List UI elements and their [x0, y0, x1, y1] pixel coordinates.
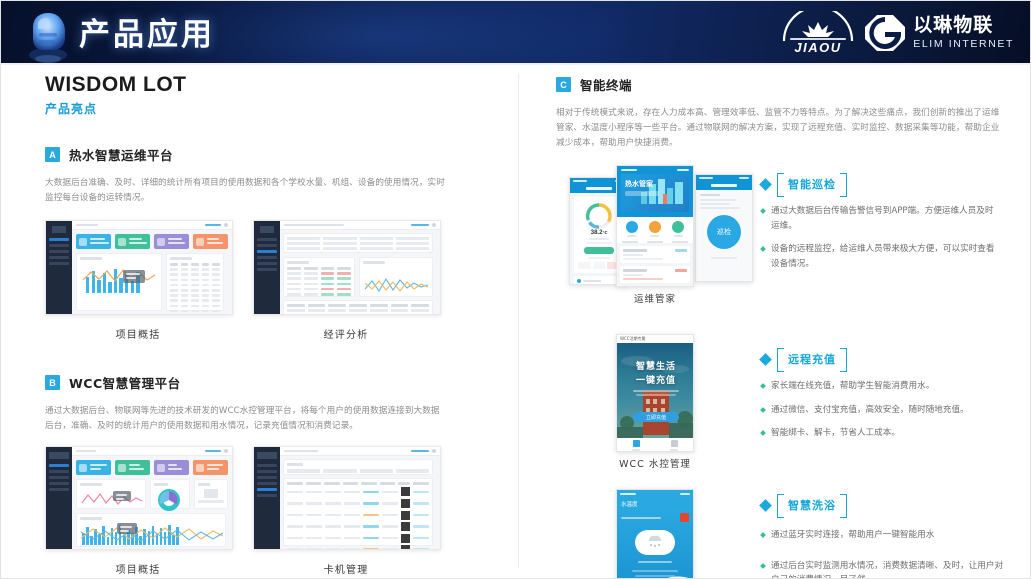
content-area: WISDOM LOT 产品亮点 A 热水智慧运维平台 大数据后台准确、及时、详细… — [1, 65, 1031, 579]
app-main — [280, 447, 440, 549]
terminal-group-wcc: WCC活期专属 — [556, 334, 1008, 469]
kpi-cards — [76, 234, 228, 249]
bracket-right-icon — [840, 348, 847, 372]
wcc-hero: 智慧生活 一键充值 立即充值 — [617, 343, 693, 438]
feature-tag: 智能巡检 — [777, 173, 847, 195]
list-item: 智能绑卡、解卡，节省人工成本。 — [761, 426, 1006, 441]
group-caption: 运维管家 — [616, 291, 694, 305]
bullet-icon — [760, 407, 766, 413]
feature-heading: 智慧洗浴 — [761, 494, 1009, 516]
phone-hero-title: 热水管家 — [625, 179, 653, 189]
feature-block-recharge: 远程充值 家长端在线充值，帮助学生智能消费用水。 通过微信、支付宝充值，高效安全… — [761, 348, 1006, 450]
diamond-icon — [759, 178, 772, 191]
feature-heading: 远程充值 — [761, 348, 1006, 370]
section-c-badge: C — [556, 77, 571, 92]
wcc-hero-line2: 一键充值 — [617, 373, 693, 386]
section-b-title: WCC智慧管理平台 — [69, 373, 181, 392]
data-table — [283, 478, 433, 546]
jiaou-logo: JIAOU — [772, 11, 864, 55]
bullet-icon — [760, 246, 766, 252]
screenshot-caption: 项目概括 — [45, 326, 231, 341]
alarm-list-item[interactable] — [620, 246, 690, 263]
bullet-icon — [760, 563, 766, 569]
section-a-badge: A — [45, 147, 60, 162]
fist-icon — [17, 3, 79, 63]
list-item-text: 通过后台实时监测用水情况，消费数据清晰、及时，让用户对自己的消费情况一目了然 — [771, 559, 1009, 579]
feature-tag: 远程充值 — [777, 348, 847, 370]
feature-heading: 智能巡检 — [761, 173, 1001, 195]
app-topbar — [280, 447, 440, 456]
feature-tag-label: 智慧洗浴 — [788, 497, 836, 513]
bracket-left-icon — [777, 494, 784, 518]
section-c-head: C 智能终端 — [556, 75, 1008, 94]
kpi-cards — [76, 460, 228, 475]
app-topbar — [72, 221, 232, 230]
wisdom-lot-title: WISDOM LOT — [45, 73, 485, 97]
quick-actions[interactable] — [620, 221, 690, 237]
wave-divider-icon — [617, 575, 694, 579]
feature-tag-label: 智能巡检 — [788, 176, 836, 192]
alarm-list-item[interactable] — [620, 266, 690, 283]
page-header: 产品应用 JIAOU 以琳物联 ELIM INTERNET — [1, 1, 1031, 63]
left-column: WISDOM LOT 产品亮点 A 热水智慧运维平台 大数据后台准确、及时、详细… — [45, 65, 485, 576]
app-main — [280, 221, 440, 314]
screenshot-image — [253, 220, 441, 315]
shower-app-title: 水温度 — [621, 500, 689, 508]
section-b-desc: 通过大数据后台、物联网等先进的技术研发的WCC水控管理平台，将每个用户的使用数据… — [45, 404, 445, 434]
bracket-left-icon — [777, 173, 784, 197]
screenshot-image — [45, 446, 233, 550]
alarm-list-item[interactable] — [620, 286, 690, 287]
app-sidebar — [46, 221, 72, 314]
chart-tooltip — [117, 523, 137, 534]
screenshot-caption: 经评分析 — [253, 326, 439, 341]
elim-wordmark: 以琳物联 ELIM INTERNET — [913, 16, 1014, 50]
phone-mockup-wcc: WCC活期专属 — [616, 334, 694, 452]
page-title: 产品应用 — [79, 9, 215, 54]
section-a: A 热水智慧运维平台 大数据后台准确、及时、详细的统计所有项目的使用数据和各个学… — [45, 145, 485, 341]
column-divider — [518, 73, 519, 568]
filter-bar — [283, 459, 433, 475]
section-a-head: A 热水智慧运维平台 — [45, 145, 485, 164]
terminal-group-ops-butler: 38.2℃ — [556, 165, 1008, 310]
diamond-icon — [759, 499, 772, 512]
temperature-value: 38.2 — [591, 230, 603, 236]
wisdom-lot-subtitle: 产品亮点 — [45, 100, 485, 117]
temperature-unit: ℃ — [602, 230, 607, 235]
list-item-text: 通过微信、支付宝充值，高效安全，随时随地充值。 — [771, 403, 969, 418]
list-item: 通过微信、支付宝充值，高效安全，随时随地充值。 — [761, 403, 1006, 418]
section-b-badge: B — [45, 375, 60, 390]
elim-name-cn: 以琳物联 — [913, 16, 1014, 36]
section-b-head: B WCC智慧管理平台 — [45, 373, 485, 392]
phone-mockup-inspect: 巡检 — [695, 174, 753, 282]
section-c-desc: 相对于传统模式来说，存在人力成本高、管理效率低、监管不力等特点。为了解决这些痛点… — [556, 106, 1001, 151]
section-b: B WCC智慧管理平台 通过大数据后台、物联网等先进的技术研发的WCC水控管理平… — [45, 373, 485, 576]
section-c-title: 智能终端 — [580, 75, 632, 94]
screenshot-image — [253, 446, 441, 550]
feature-block-inspection: 智能巡检 通过大数据后台传输告警信号到APP端。方便运维人员及时运维。 设备的远… — [761, 173, 1001, 280]
elim-mark-icon — [865, 13, 905, 53]
list-item-text: 通过大数据后台传输告警信号到APP端。方便运维人员及时运维。 — [771, 204, 1001, 233]
app-sidebar — [254, 221, 280, 314]
feature-block-shower: 智慧洗浴 通过蓝牙实时连接，帮助用户一键智能用水 通过后台实时监测用水情况，消费… — [761, 494, 1009, 579]
list-item: 设备的远程监控，给运维人员带来极大方便，可以实时查看设备情况。 — [761, 242, 1001, 271]
product-application-slide: 产品应用 JIAOU 以琳物联 ELIM INTERNET — [0, 0, 1031, 579]
section-c: C 智能终端 相对于传统模式来说，存在人力成本高、管理效率低、监管不力等特点。为… — [556, 75, 1008, 151]
list-item: 通过大数据后台传输告警信号到APP端。方便运维人员及时运维。 — [761, 204, 1001, 233]
wcc-recharge-button[interactable]: 立即充值 — [633, 412, 679, 422]
list-item-text: 家长端在线充值，帮助学生智能消费用水。 — [771, 379, 934, 394]
phone-mockup-main: 热水管家 — [616, 165, 694, 287]
screenshot-card[interactable]: 经评分析 — [253, 220, 439, 341]
section-a-title: 热水智慧运维平台 — [69, 145, 173, 164]
group-caption: WCC 水控管理 — [601, 456, 709, 470]
line-overlay — [79, 522, 225, 546]
elim-name-en: ELIM INTERNET — [913, 38, 1014, 50]
elim-logo: 以琳物联 ELIM INTERNET — [865, 13, 1014, 53]
feature-bullet-list: 通过大数据后台传输告警信号到APP端。方便运维人员及时运维。 设备的远程监控，给… — [761, 204, 1001, 271]
feature-bullet-list: 家长端在线充值，帮助学生智能消费用水。 通过微信、支付宝充值，高效安全，随时随地… — [761, 379, 1006, 441]
line-chart — [80, 489, 144, 509]
list-item-text: 通过蓝牙实时连接，帮助用户一键智能用水 — [771, 528, 934, 543]
chart-tooltip — [113, 491, 131, 501]
filter-row[interactable] — [620, 241, 690, 243]
bracket-right-icon — [840, 494, 847, 518]
wcc-hero-line1: 智慧生活 — [617, 359, 693, 372]
screenshot-caption: 项目概括 — [45, 561, 231, 576]
screenshot-card[interactable]: 项目概括 — [45, 220, 231, 341]
wcc-app-title: WCC活期专属 — [620, 336, 646, 342]
bullet-icon — [760, 383, 766, 389]
diamond-icon — [759, 353, 772, 366]
line-chart — [363, 269, 431, 299]
feature-tag: 智慧洗浴 — [777, 494, 847, 516]
screenshot-card[interactable]: 项目概括 — [45, 446, 231, 576]
bullet-icon — [760, 532, 766, 538]
terminal-group-water-temp: 水温度 — [556, 489, 1008, 579]
screenshot-caption: 卡机管理 — [253, 561, 439, 576]
wcc-tabbar[interactable] — [617, 438, 693, 452]
app-main — [72, 221, 232, 314]
right-column: C 智能终端 相对于传统模式来说，存在人力成本高、管理效率低、监管不力等特点。为… — [556, 65, 1008, 579]
temperature-gauge-icon — [579, 201, 619, 229]
app-topbar — [72, 447, 232, 456]
app-sidebar — [254, 447, 280, 549]
feature-bullet-list: 通过蓝牙实时连接，帮助用户一键智能用水 通过后台实时监测用水情况，消费数据清晰、… — [761, 528, 1009, 579]
bracket-right-icon — [840, 173, 847, 197]
bullet-icon — [760, 208, 766, 214]
list-item: 家长端在线充值，帮助学生智能消费用水。 — [761, 379, 1006, 394]
app-sidebar — [46, 447, 72, 549]
list-item: 通过后台实时监测用水情况，消费数据清晰、及时，让用户对自己的消费情况一目了然 — [761, 559, 1009, 579]
app-main — [72, 447, 232, 549]
section-b-shots: 项目概括 — [45, 446, 485, 576]
list-item: 通过蓝牙实时连接，帮助用户一键智能用水 — [761, 528, 1009, 543]
shower-head-icon — [635, 530, 675, 555]
bracket-left-icon — [777, 348, 784, 372]
pie-chart — [154, 489, 188, 511]
app-topbar — [280, 221, 440, 230]
bullet-icon — [760, 430, 766, 436]
screenshot-card[interactable]: 卡机管理 — [253, 446, 439, 576]
inspect-action-button[interactable]: 巡检 — [707, 215, 741, 249]
feature-tag-label: 远程充值 — [788, 351, 836, 367]
chart-tooltip — [123, 270, 145, 283]
list-item-text: 智能绑卡、解卡，节省人工成本。 — [771, 426, 900, 441]
list-item-text: 设备的远程监控，给运维人员带来极大方便，可以实时查看设备情况。 — [771, 242, 1001, 271]
screenshot-image — [45, 220, 233, 315]
section-a-shots: 项目概括 — [45, 220, 485, 341]
phone-mockup-shower: 水温度 — [616, 489, 694, 579]
jiaou-logo-text: JIAOU — [772, 40, 864, 55]
section-a-desc: 大数据后台准确、及时、详细的统计所有项目的使用数据和各个学校水量、机组、设备的使… — [45, 176, 445, 206]
